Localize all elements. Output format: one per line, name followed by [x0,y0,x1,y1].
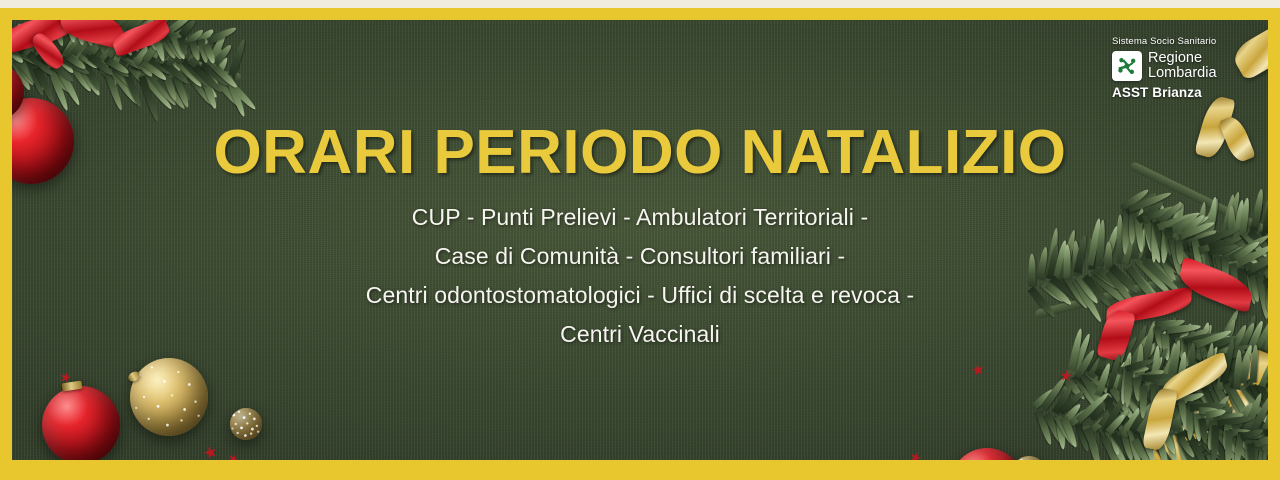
glitter-texture [1012,456,1046,460]
gold-ribbon-icon [1161,351,1230,405]
service-line: CUP - Punti Prelievi - Ambulatori Territ… [12,198,1268,237]
logo-region-row: Regione Lombardia [1112,51,1248,81]
gold-ribbon-icon [1221,346,1268,422]
asst-brianza-logo: Sistema Socio Sanitario [1112,36,1248,100]
gold-bauble-small-icon [1012,456,1046,460]
service-line: Centri odontostomatologici - Uffici di s… [12,276,1268,315]
red-star-confetti-icon [971,363,985,377]
gold-glitter-bauble-icon [130,358,208,436]
banner-text-block: ORARI PERIODO NATALIZIO CUP - Punti Prel… [12,20,1268,354]
red-star-confetti-icon [908,450,922,460]
red-star-confetti-icon [59,371,72,384]
banner-photo-panel: Sistema Socio Sanitario [12,20,1268,460]
logo-agency-name: ASST Brianza [1112,85,1248,100]
ornament-cap-icon [62,381,83,392]
decoration-bottom-right [1102,360,1268,460]
red-bell-ornament-icon [42,386,120,460]
decoration-bottom-left [32,350,322,460]
gold-bauble-small-icon [230,408,262,440]
rosa-camuna-icon [1112,51,1142,81]
christmas-hours-banner: Sistema Socio Sanitario [0,0,1280,480]
top-cream-strip [0,0,1280,8]
red-bauble-icon [950,448,1024,460]
logo-region-line-1: Regione [1148,51,1217,66]
service-list: CUP - Punti Prelievi - Ambulatori Territ… [12,198,1268,354]
glitter-texture [230,408,262,440]
logo-region-line-2: Lombardia [1148,66,1217,81]
red-star-confetti-icon [202,444,218,460]
glitter-texture [130,358,208,436]
pine-branch-icon [1102,360,1268,460]
service-line: Centri Vaccinali [12,315,1268,354]
red-star-confetti-icon [226,452,240,460]
logo-region-name: Regione Lombardia [1148,51,1217,81]
logo-system-line: Sistema Socio Sanitario [1112,36,1248,48]
gold-ribbon-icon [1142,386,1178,452]
ornament-cap-icon [127,370,142,384]
page-title: ORARI PERIODO NATALIZIO [12,120,1268,186]
gold-ribbon-icon [1181,387,1256,444]
gold-ribbon-icon [1134,429,1192,460]
red-star-confetti-icon [1059,369,1073,383]
service-line: Case di Comunità - Consultori familiari … [12,237,1268,276]
